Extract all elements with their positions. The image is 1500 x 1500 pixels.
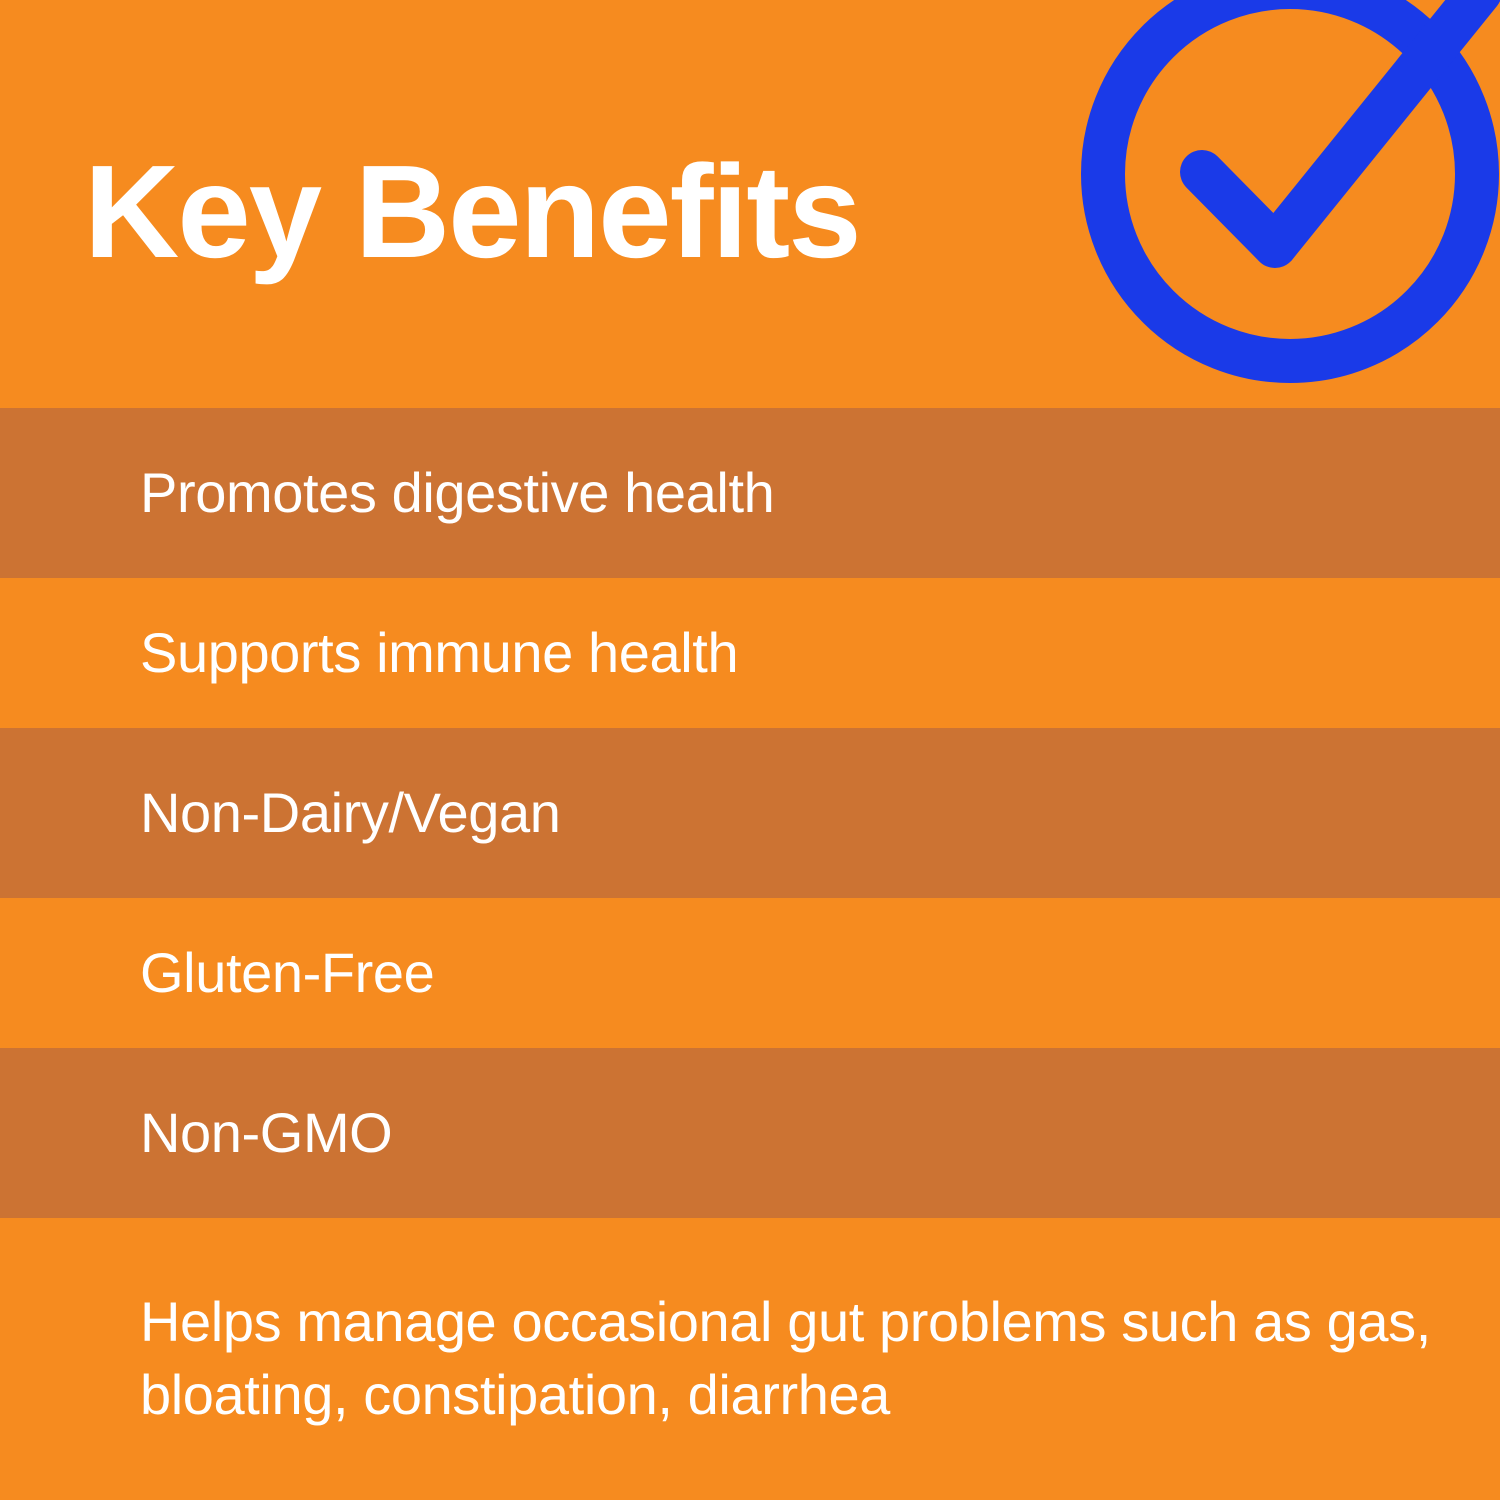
benefit-label: Gluten-Free <box>140 939 434 1007</box>
benefit-row: Gluten-Free <box>0 898 1500 1048</box>
benefit-row: Non-Dairy/Vegan <box>0 728 1500 898</box>
benefit-label: Non-GMO <box>140 1099 392 1167</box>
benefit-label: Helps manage occasional gut problems suc… <box>140 1286 1440 1432</box>
benefit-row: Supports immune health <box>0 578 1500 728</box>
page-title: Key Benefits <box>84 146 860 278</box>
benefit-row: Non-GMO <box>0 1048 1500 1218</box>
benefit-row: Promotes digestive health <box>0 408 1500 578</box>
benefit-row: Helps manage occasional gut problems suc… <box>0 1218 1500 1500</box>
benefit-label: Non-Dairy/Vegan <box>140 779 560 847</box>
header-band: Key Benefits <box>0 0 1500 408</box>
benefit-label: Promotes digestive health <box>140 459 774 527</box>
benefit-label: Supports immune health <box>140 619 738 687</box>
key-benefits-poster: Key Benefits Promotes digestive healthSu… <box>0 0 1500 1500</box>
